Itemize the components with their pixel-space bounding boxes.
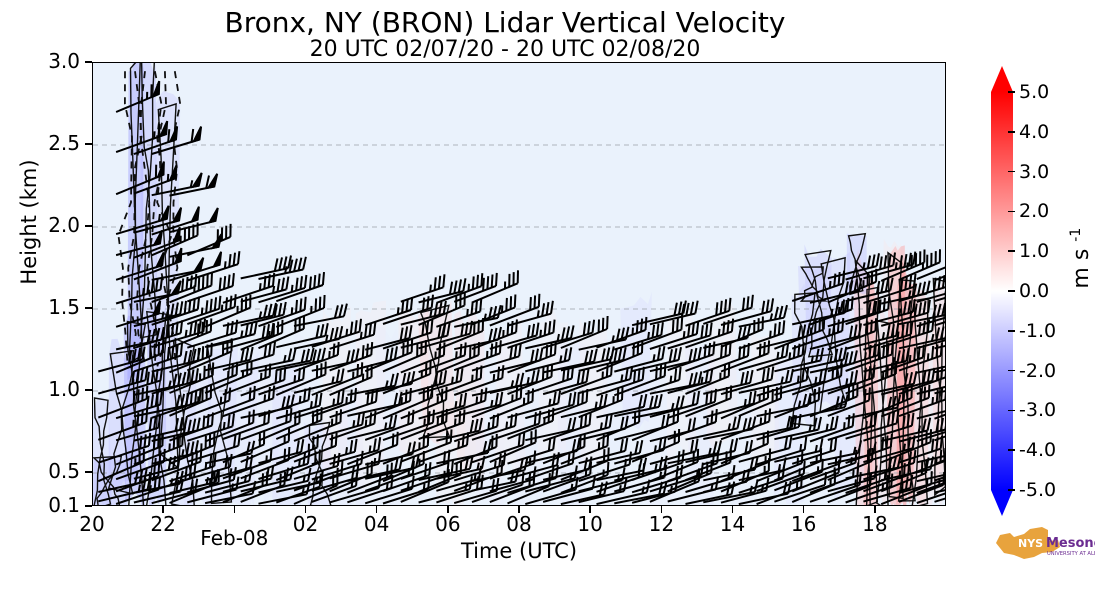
- colorbar-tick-label-0: 5.0: [1019, 81, 1049, 103]
- colorbar-tick-mark-6: [1008, 330, 1015, 332]
- x-tick-label-3: 02: [293, 512, 318, 536]
- colorbar-tick-mark-8: [1008, 410, 1015, 412]
- colorbar-tick-label-9: -4.0: [1019, 439, 1056, 461]
- colorbar-unit-label: m s -1: [1068, 198, 1094, 318]
- chart-title: Bronx, NY (BRON) Lidar Vertical Velocity: [0, 6, 1010, 39]
- x-tick-mark-2: [234, 506, 236, 513]
- colorbar-tick-mark-1: [1008, 131, 1015, 133]
- x-tick-label-6: 08: [506, 512, 531, 536]
- x-tick-label-7: 10: [577, 512, 602, 536]
- colorbar-tick-label-6: -1.0: [1019, 320, 1056, 342]
- x-tick-label-9: 14: [720, 512, 745, 536]
- colorbar-extend-max: [991, 66, 1013, 92]
- x-tick-label-0: 20: [79, 512, 104, 536]
- y-tick-label-0: 0.1: [24, 493, 80, 517]
- colorbar-tick-label-3: 2.0: [1019, 200, 1049, 222]
- y-tick-mark-1: [85, 471, 92, 473]
- wind-barb: [241, 256, 291, 279]
- x-axis-label: Time (UTC): [92, 539, 946, 563]
- colorbar-tick-label-1: 4.0: [1019, 121, 1049, 143]
- y-tick-label-1: 0.5: [24, 459, 80, 483]
- colorbar-tick-mark-7: [1008, 370, 1015, 372]
- x-tick-label-8: 12: [649, 512, 674, 536]
- y-tick-label-6: 3.0: [24, 49, 80, 73]
- x-tick-label-1: 22: [150, 512, 175, 536]
- colorbar-tick-mark-9: [1008, 449, 1015, 451]
- y-tick-mark-2: [85, 389, 92, 391]
- plot-area: [92, 62, 946, 506]
- logo-mesonet-text: Mesonet: [1046, 536, 1095, 551]
- colorbar-tick-label-4: 1.0: [1019, 240, 1049, 262]
- colorbar-tick-mark-3: [1008, 211, 1015, 213]
- logo-tagline-text: UNIVERSITY AT ALBANY: [1047, 551, 1095, 557]
- colorbar-tick-label-10: -5.0: [1019, 479, 1056, 501]
- y-tick-mark-0: [85, 505, 92, 507]
- y-tick-mark-4: [85, 225, 92, 227]
- x-tick-label-5: 06: [435, 512, 460, 536]
- y-tick-label-2: 1.0: [24, 377, 80, 401]
- colorbar: 5.04.03.02.01.00.0-1.0-2.0-3.0-4.0-5.0: [985, 58, 1025, 516]
- colorbar-tick-mark-0: [1008, 91, 1015, 93]
- colorbar-tick-mark-5: [1008, 290, 1015, 292]
- wind-barb: [419, 278, 466, 302]
- colorbar-tick-label-7: -2.0: [1019, 360, 1056, 382]
- colorbar-tick-label-5: 0.0: [1019, 280, 1049, 302]
- x-tick-label-4: 04: [364, 512, 389, 536]
- x-tick-label-11: 18: [862, 512, 887, 536]
- y-tick-mark-5: [85, 143, 92, 145]
- colorbar-tick-mark-4: [1008, 250, 1015, 252]
- y-tick-mark-6: [85, 61, 92, 63]
- plot-canvas: [93, 63, 946, 506]
- colorbar-tick-mark-10: [1008, 489, 1015, 491]
- nys-mesonet-logo: NYSMesonetUNIVERSITY AT ALBANY: [990, 521, 1095, 569]
- figure-root: Bronx, NY (BRON) Lidar Vertical Velocity…: [0, 0, 1101, 600]
- y-tick-mark-3: [85, 307, 92, 309]
- colorbar-tick-label-8: -3.0: [1019, 399, 1056, 421]
- y-axis-label: Height (km): [17, 127, 41, 317]
- x-tick-label-10: 16: [791, 512, 816, 536]
- chart-subtitle: 20 UTC 02/07/20 - 20 UTC 02/08/20: [0, 37, 1010, 62]
- colorbar-extend-min: [991, 490, 1013, 516]
- logo-nys-text: NYS: [1018, 537, 1043, 550]
- colorbar-tick-label-2: 3.0: [1019, 161, 1049, 183]
- colorbar-tick-mark-2: [1008, 171, 1015, 173]
